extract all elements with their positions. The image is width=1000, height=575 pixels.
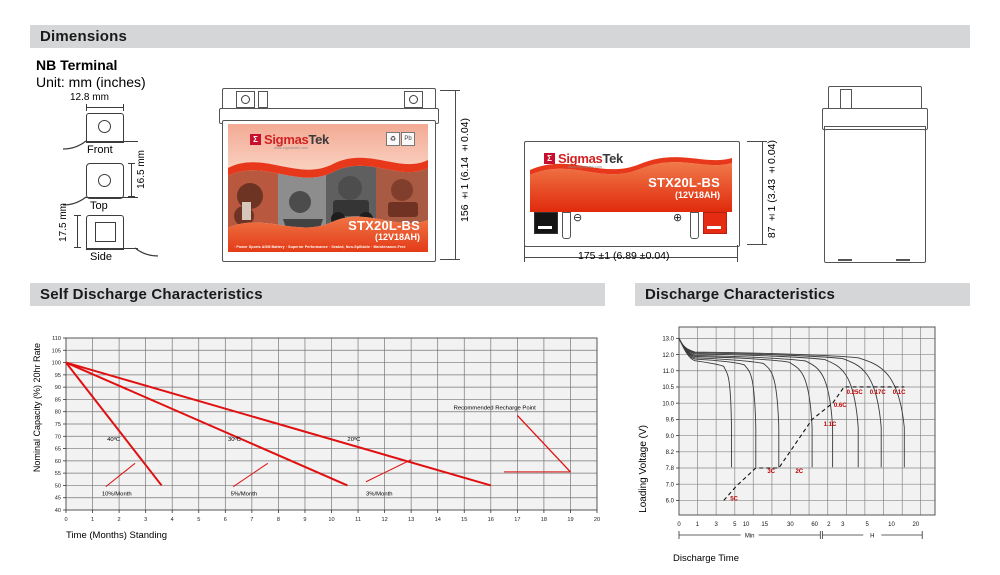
self-discharge-plot: 4045505560657075808590951001051100123456… — [30, 325, 605, 540]
svg-text:40ºC: 40ºC — [107, 436, 121, 443]
svg-text:80: 80 — [55, 410, 61, 416]
svg-text:11.0: 11.0 — [663, 369, 675, 375]
svg-text:0.1C: 0.1C — [893, 390, 906, 396]
svg-text:20: 20 — [594, 517, 600, 523]
section-title-dimensions: Dimensions — [30, 28, 127, 45]
svg-text:3C: 3C — [767, 469, 775, 475]
svg-text:13: 13 — [408, 517, 414, 523]
svg-text:2: 2 — [827, 522, 831, 528]
svg-text:2: 2 — [118, 517, 121, 523]
svg-text:30ºC: 30ºC — [228, 436, 242, 443]
svg-text:3%/Month: 3%/Month — [366, 491, 393, 497]
svg-text:0: 0 — [677, 522, 681, 528]
discharge-y-axis-title: Loading Voltage (V) — [638, 425, 649, 513]
svg-text:70: 70 — [55, 434, 61, 440]
svg-text:5: 5 — [865, 522, 869, 528]
svg-text:0.25C: 0.25C — [847, 390, 864, 396]
dim-height-line — [455, 90, 456, 260]
discharge-plot: 13.012.011.010.510.09.69.08.27.87.06.001… — [635, 315, 970, 570]
svg-text:60: 60 — [811, 522, 818, 528]
svg-text:90: 90 — [55, 385, 61, 391]
svg-text:1.1C: 1.1C — [824, 422, 837, 428]
svg-text:13.0: 13.0 — [662, 337, 674, 343]
section-title-self-discharge: Self Discharge Characteristics — [30, 286, 263, 303]
svg-text:6: 6 — [224, 517, 227, 523]
dim-width-text: 87 ±1 (3.43 ±0.04) — [766, 140, 778, 238]
dim-width-line — [762, 141, 763, 245]
svg-text:3: 3 — [714, 522, 718, 528]
terminal-width-dim: 12.8 mm — [70, 92, 109, 103]
lead-pb-icon: Pb — [401, 132, 415, 146]
svg-text:10%/Month: 10%/Month — [102, 491, 132, 497]
voltage-capacity-side: (12V18AH) — [675, 190, 720, 200]
section-header-self-discharge: Self Discharge Characteristics — [30, 283, 605, 306]
negative-polarity-icon: ⊖ — [573, 211, 582, 224]
svg-text:3: 3 — [144, 517, 147, 523]
dim-height-text: 156 ±1 (6.14 ±0.04) — [459, 118, 471, 222]
battery-label-front: Σ SigmasTek www.sigmastek.com ♻ Pb STX20… — [228, 124, 428, 252]
brand-url: www.sigmastek.com — [274, 146, 308, 150]
svg-text:Min: Min — [745, 534, 755, 540]
svg-text:20: 20 — [912, 522, 919, 528]
svg-text:10: 10 — [888, 522, 895, 528]
svg-text:16: 16 — [488, 517, 494, 523]
svg-text:15: 15 — [461, 517, 467, 523]
section-header-discharge: Discharge Characteristics — [635, 283, 970, 306]
svg-text:5: 5 — [197, 517, 200, 523]
svg-text:5C: 5C — [730, 496, 738, 502]
svg-text:18: 18 — [541, 517, 547, 523]
svg-text:12.0: 12.0 — [662, 353, 674, 359]
svg-text:14: 14 — [435, 517, 441, 523]
battery-label-side: Σ SigmasTek www.sigmastek.com STX20L-BS … — [530, 145, 732, 212]
svg-text:7.8: 7.8 — [666, 466, 675, 472]
svg-text:100: 100 — [52, 361, 61, 367]
svg-text:50: 50 — [55, 483, 61, 489]
svg-text:19: 19 — [567, 517, 573, 523]
svg-text:Recommended Recharge Point: Recommended Recharge Point — [454, 405, 537, 411]
negative-terminal — [534, 212, 558, 234]
svg-text:10.5: 10.5 — [662, 385, 674, 391]
brand-logo: Σ SigmasTek — [250, 132, 329, 147]
svg-text:110: 110 — [52, 336, 61, 342]
svg-text:H: H — [870, 534, 874, 540]
unit-label: Unit: mm (inches) — [36, 74, 146, 90]
dim-length-text: 175 ±1 (6.89 ±0.04) — [578, 250, 670, 262]
recycle-icon: ♻ — [386, 132, 400, 146]
svg-text:1: 1 — [91, 517, 94, 523]
self-discharge-x-axis-title: Time (Months) Standing — [66, 530, 167, 541]
svg-text:7: 7 — [250, 517, 253, 523]
svg-text:12: 12 — [381, 517, 387, 523]
sigma-mark-icon-side: Σ — [544, 153, 555, 164]
svg-text:40: 40 — [55, 508, 61, 514]
brand-url-side: www.sigmastek.com — [568, 165, 602, 169]
svg-text:11: 11 — [355, 517, 361, 523]
positive-terminal — [703, 212, 727, 234]
svg-text:8.2: 8.2 — [666, 450, 675, 456]
section-title-discharge: Discharge Characteristics — [635, 286, 835, 303]
svg-text:45: 45 — [55, 496, 61, 502]
self-discharge-chart: 4045505560657075808590951001051100123456… — [30, 325, 605, 540]
svg-text:105: 105 — [52, 348, 61, 354]
discharge-chart: 13.012.011.010.510.09.69.08.27.87.06.001… — [635, 315, 970, 570]
svg-text:17: 17 — [514, 517, 520, 523]
svg-text:15: 15 — [761, 522, 768, 528]
voltage-capacity-front: (12V18AH) — [375, 232, 420, 242]
model-number-front: STX20L-BS — [348, 218, 420, 233]
svg-text:8: 8 — [277, 517, 280, 523]
svg-text:5: 5 — [733, 522, 737, 528]
terminal-side-label: Side — [90, 251, 112, 263]
svg-text:4: 4 — [171, 517, 174, 523]
svg-text:0: 0 — [64, 517, 67, 523]
svg-text:10.0: 10.0 — [662, 401, 674, 407]
svg-text:9.6: 9.6 — [666, 418, 675, 424]
model-number-side: STX20L-BS — [648, 175, 720, 190]
discharge-x-axis-title: Discharge Time — [673, 553, 739, 564]
svg-text:2C: 2C — [795, 469, 803, 475]
svg-text:85: 85 — [55, 397, 61, 403]
brand-logo-side: Σ SigmasTek — [544, 151, 623, 166]
sigma-mark-icon: Σ — [250, 134, 261, 145]
svg-text:95: 95 — [55, 373, 61, 379]
svg-text:20ºC: 20ºC — [347, 436, 361, 443]
svg-text:5%/Month: 5%/Month — [231, 491, 258, 497]
nb-terminal-title: NB Terminal — [36, 57, 117, 73]
svg-text:3: 3 — [841, 522, 845, 528]
section-header-dimensions: Dimensions — [30, 25, 970, 48]
terminal-top-label: Top — [90, 200, 108, 212]
svg-text:65: 65 — [55, 447, 61, 453]
svg-text:6.0: 6.0 — [666, 499, 675, 505]
svg-text:9: 9 — [303, 517, 306, 523]
svg-text:0.17C: 0.17C — [870, 390, 887, 396]
svg-text:9.0: 9.0 — [666, 434, 675, 440]
svg-text:30: 30 — [787, 522, 794, 528]
terminal-front-label: Front — [87, 144, 113, 156]
svg-text:60: 60 — [55, 459, 61, 465]
svg-text:10: 10 — [743, 522, 750, 528]
svg-text:10: 10 — [328, 517, 334, 523]
leader-curve-side — [134, 243, 164, 257]
svg-text:75: 75 — [55, 422, 61, 428]
terminal-height-dim: 17.5 mm — [58, 203, 69, 242]
terminal-depth-dim: 16.5 mm — [136, 150, 147, 189]
svg-text:0.6C: 0.6C — [834, 403, 847, 409]
self-discharge-y-axis-title: Nominal Capacity (%) 20hr Rate — [32, 343, 42, 472]
brand-name-side: SigmasTek — [558, 151, 623, 166]
svg-text:55: 55 — [55, 471, 61, 477]
feature-tagline: · Power Sports AGM Battery · Superior Pe… — [234, 245, 406, 249]
positive-polarity-icon: ⊕ — [673, 211, 682, 224]
brand-name: SigmasTek — [264, 132, 329, 147]
svg-text:7.0: 7.0 — [666, 482, 675, 488]
svg-text:1: 1 — [696, 522, 700, 528]
